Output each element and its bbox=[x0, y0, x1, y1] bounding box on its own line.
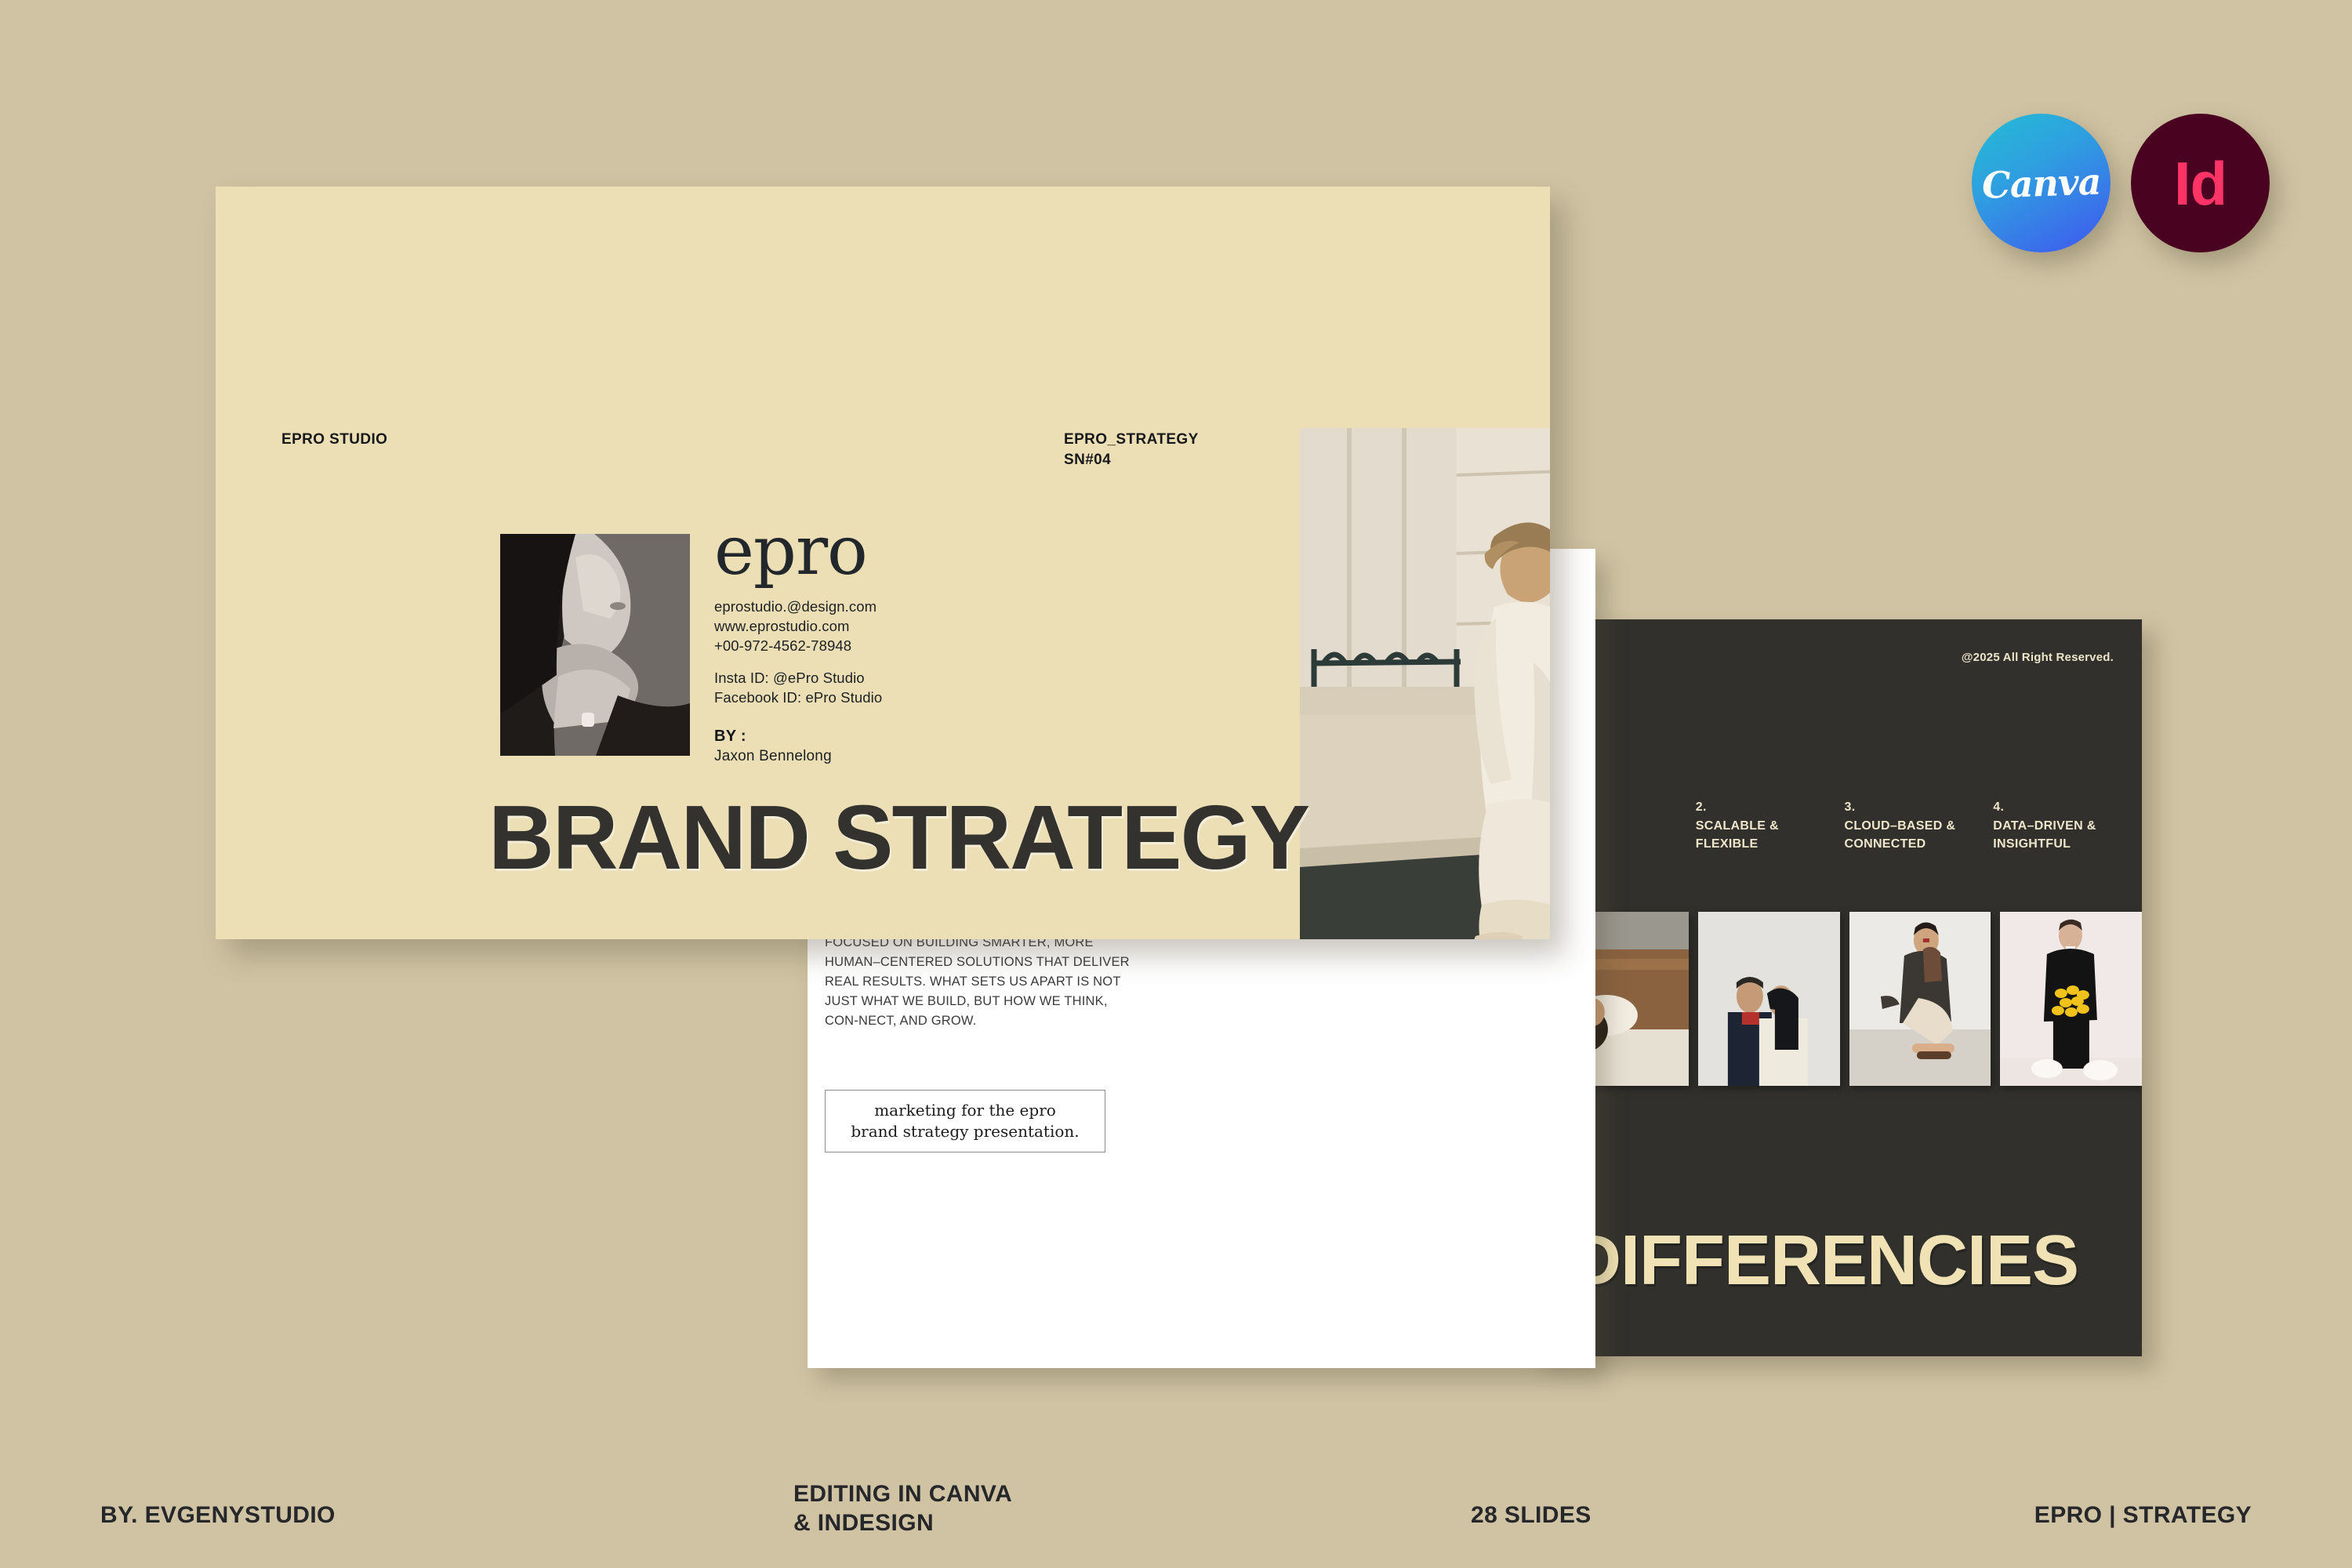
epro-logo: epro bbox=[714, 520, 1044, 584]
canva-logo-text: Canva bbox=[1981, 160, 2101, 206]
page-footer: BY. EVGENYSTUDIO EDITING IN CANVA & INDE… bbox=[0, 1462, 2352, 1568]
slide-differencies[interactable]: @2025 All Right Reserved. 1. 2. SCALABLE… bbox=[1533, 619, 2142, 1356]
indesign-badge[interactable]: Id bbox=[2131, 114, 2270, 252]
spacer bbox=[714, 655, 1044, 668]
slide-meta: EPRO_STRATEGY SN#04 bbox=[1064, 430, 1199, 470]
meta-line-2: SN#04 bbox=[1064, 450, 1199, 470]
thumbnail-row bbox=[1533, 912, 2142, 1086]
feature-line-2: CONNECTED bbox=[1845, 835, 1994, 853]
hero-image bbox=[1300, 428, 1550, 939]
contact-facebook[interactable]: Facebook ID: ePro Studio bbox=[714, 688, 1044, 707]
canva-badge[interactable]: Canva bbox=[1972, 114, 2111, 252]
portrait-image bbox=[500, 534, 690, 756]
feature-line-1: DATA–DRIVEN & bbox=[1993, 817, 2142, 835]
byline-label: BY : bbox=[714, 728, 1044, 746]
contact-instagram[interactable]: Insta ID: @ePro Studio bbox=[714, 668, 1044, 688]
feature-item-4: 4. DATA–DRIVEN & INSIGHTFUL bbox=[1993, 798, 2142, 853]
quote-box: marketing for the epro brand strategy pr… bbox=[825, 1090, 1105, 1152]
slide-cover[interactable]: EPRO STUDIO EPRO_STRATEGY SN#04 epro epr… bbox=[216, 187, 1550, 939]
feature-list: 1. 2. SCALABLE & FLEXIBLE 3. CLOUD–BASED… bbox=[1533, 798, 2142, 853]
software-badges: Canva Id bbox=[1972, 114, 2270, 252]
quote-line-1: marketing for the epro bbox=[874, 1101, 1056, 1120]
feature-item-3: 3. CLOUD–BASED & CONNECTED bbox=[1845, 798, 1994, 853]
feature-line-2: FLEXIBLE bbox=[1696, 835, 1845, 853]
feature-line-1: SCALABLE & bbox=[1696, 817, 1845, 835]
footer-author: BY. EVGENYSTUDIO bbox=[100, 1501, 336, 1530]
footer-slide-count: 28 SLIDES bbox=[1471, 1501, 1592, 1530]
indesign-logo-text: Id bbox=[2174, 153, 2227, 214]
contact-phone[interactable]: +00-972-4562-78948 bbox=[714, 636, 1044, 655]
cover-info-block: epro eprostudio.@design.com www.eprostud… bbox=[714, 520, 1044, 765]
byline-name: Jaxon Bennelong bbox=[714, 748, 1044, 765]
feature-line-2: INSIGHTFUL bbox=[1993, 835, 2142, 853]
copyright-text: @2025 All Right Reserved. bbox=[1962, 651, 2114, 664]
feature-item-2: 2. SCALABLE & FLEXIBLE bbox=[1696, 798, 1845, 853]
feature-number: 4. bbox=[1993, 798, 2142, 817]
footer-product: EPRO | STRATEGY bbox=[2034, 1501, 2252, 1530]
contact-email[interactable]: eprostudio.@design.com bbox=[714, 597, 1044, 616]
quote-line-2: brand strategy presentation. bbox=[851, 1122, 1079, 1141]
contact-website[interactable]: www.eprostudio.com bbox=[714, 616, 1044, 636]
meta-line-1: EPRO_STRATEGY bbox=[1064, 430, 1199, 450]
contact-block: eprostudio.@design.com www.eprostudio.co… bbox=[714, 597, 1044, 708]
feature-number: 3. bbox=[1845, 798, 1994, 817]
feature-line-1: CLOUD–BASED & bbox=[1845, 817, 1994, 835]
thumbnail-couple-in-white-knitwear[interactable] bbox=[1698, 912, 1840, 1086]
thumbnail-model-with-lemons[interactable] bbox=[2000, 912, 2142, 1086]
thumbnail-woman-seated-in-coat[interactable] bbox=[1849, 912, 1991, 1086]
cover-title: BRAND STRATEGY bbox=[488, 792, 1308, 883]
studio-tag: EPRO STUDIO bbox=[281, 431, 387, 448]
footer-editing-line-2: & INDESIGN bbox=[793, 1509, 1012, 1538]
dark-slide-title: DIFFERENCIES bbox=[1570, 1221, 2078, 1301]
feature-number: 2. bbox=[1696, 798, 1845, 817]
quote-text: marketing for the epro brand strategy pr… bbox=[851, 1100, 1079, 1142]
footer-editing: EDITING IN CANVA & INDESIGN bbox=[793, 1480, 1012, 1537]
footer-editing-line-1: EDITING IN CANVA bbox=[793, 1480, 1012, 1509]
